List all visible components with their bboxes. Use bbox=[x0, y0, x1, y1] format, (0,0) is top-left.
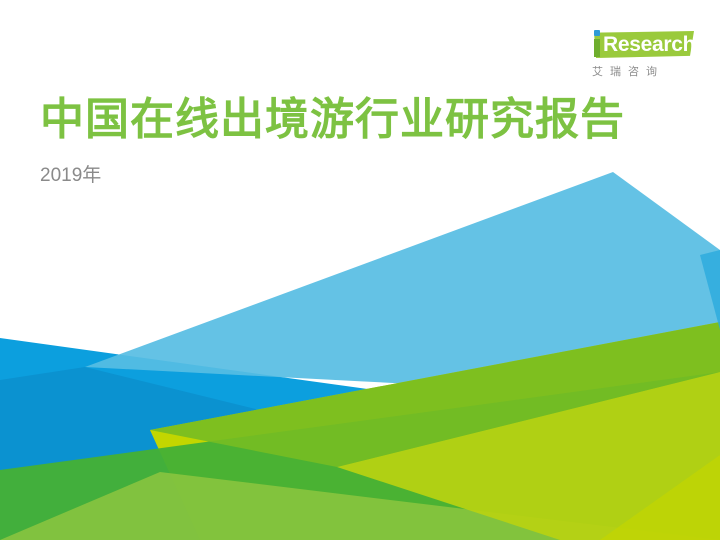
iresearch-logo: Research 艾瑞咨询 bbox=[578, 28, 696, 86]
page-subtitle-year: 2019年 bbox=[40, 163, 101, 189]
logo-chinese-subtitle: 艾瑞咨询 bbox=[592, 64, 696, 80]
logo-wordmark: Research bbox=[603, 33, 693, 57]
logo-i-dot-icon bbox=[594, 30, 600, 36]
report-cover-page: Research 艾瑞咨询 中国在线出境游行业研究报告 2019年 bbox=[0, 0, 720, 540]
logo-i-stem-shape bbox=[594, 39, 600, 57]
logo-mark: Research bbox=[578, 28, 696, 62]
page-title: 中国在线出境游行业研究报告 bbox=[40, 94, 625, 146]
